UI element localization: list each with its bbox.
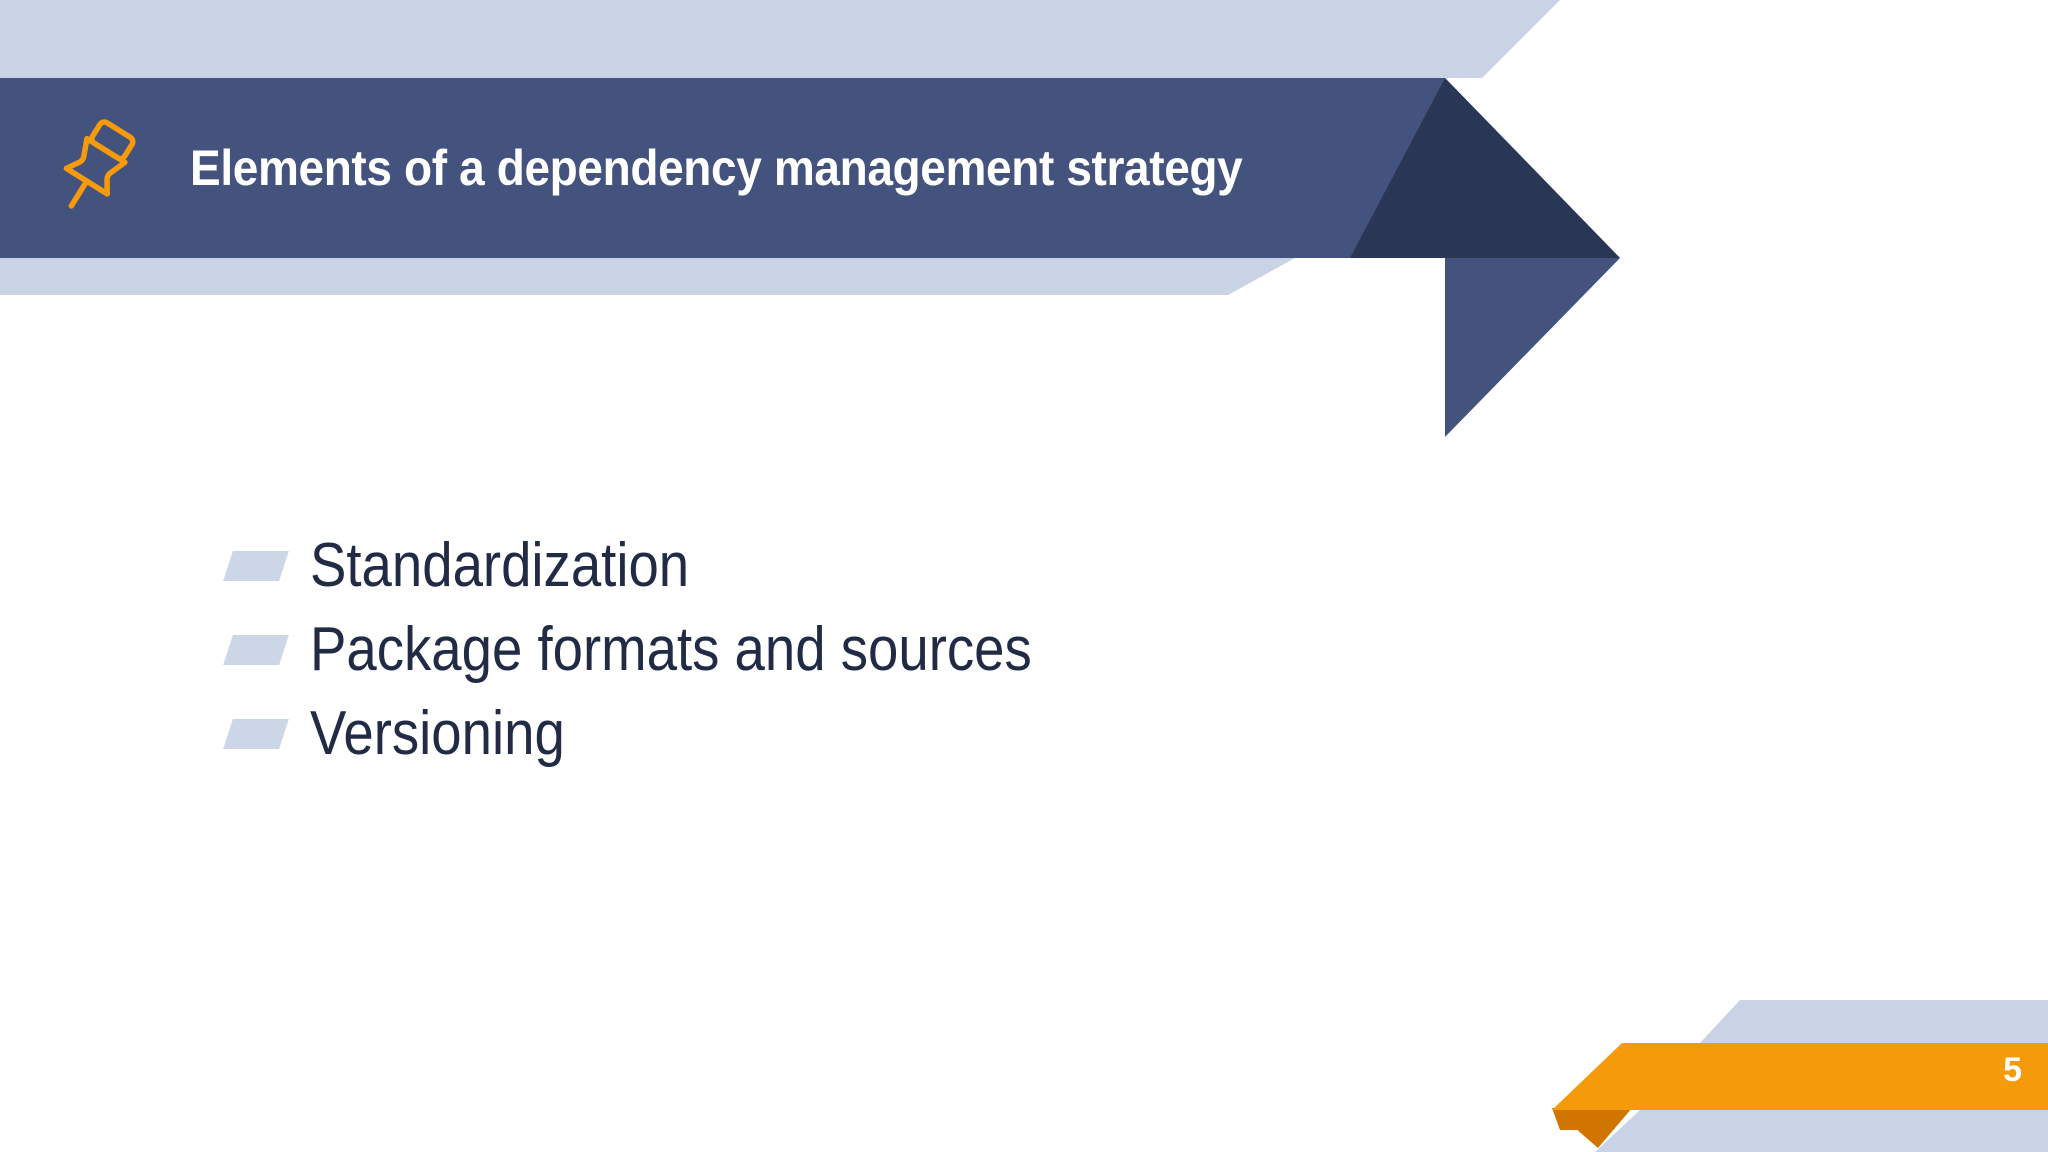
parallelogram-bullet-icon xyxy=(223,635,289,665)
list-item: Versioning xyxy=(228,692,1528,776)
page-number: 5 xyxy=(2003,1053,2022,1087)
bullet-list: Standardization Package formats and sour… xyxy=(228,524,1528,776)
title-banner-tip xyxy=(1445,258,1620,437)
presentation-slide: Elements of a dependency management stra… xyxy=(0,0,2048,1152)
list-item: Package formats and sources xyxy=(228,608,1528,692)
list-item: Standardization xyxy=(228,524,1528,608)
slide-header: Elements of a dependency management stra… xyxy=(0,78,1560,258)
parallelogram-bullet-icon xyxy=(223,551,289,581)
list-item-label: Standardization xyxy=(310,535,689,597)
page-number-banner xyxy=(1552,1043,2048,1110)
bottom-banner-fold-tip xyxy=(1552,1108,1632,1148)
header-lower-light-band xyxy=(0,258,1295,295)
bottom-banner-fold xyxy=(1552,1108,1632,1130)
top-light-band xyxy=(0,0,1560,78)
page-title: Elements of a dependency management stra… xyxy=(190,142,1242,195)
bottom-upper-light-band xyxy=(1700,1000,2048,1043)
bottom-lower-light-band xyxy=(1595,1110,2048,1152)
list-item-label: Package formats and sources xyxy=(310,619,1032,681)
parallelogram-bullet-icon xyxy=(223,719,289,749)
list-item-label: Versioning xyxy=(310,703,565,765)
pushpin-icon xyxy=(0,78,190,258)
